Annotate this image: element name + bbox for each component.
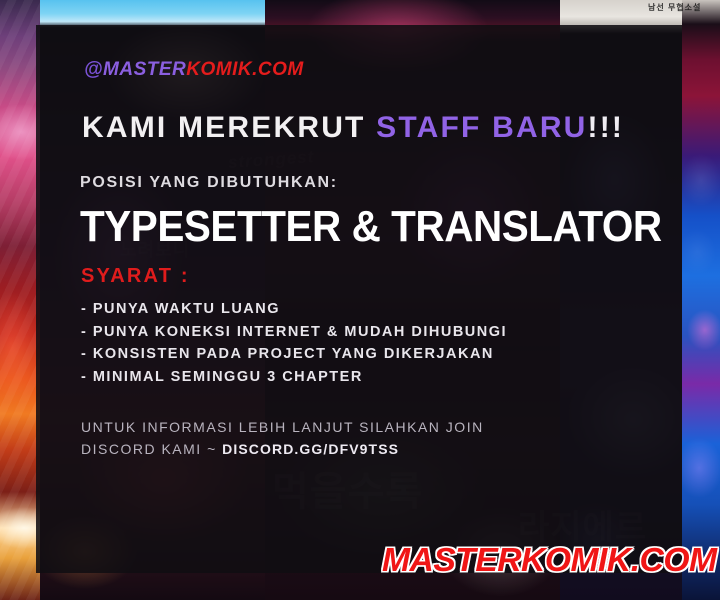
list-item: - PUNYA KONEKSI INTERNET & MUDAH DIHUBUN… — [81, 321, 507, 344]
discord-invite-link[interactable]: DISCORD.GG/DFV9TSS — [222, 441, 399, 457]
site-watermark: MASTERKOMIK.COM — [382, 541, 717, 579]
requirements-list: - PUNYA WAKTU LUANG - PUNYA KONEKSI INTE… — [81, 298, 507, 388]
at-symbol-icon: @ — [84, 59, 103, 80]
position-label: POSISI YANG DIBUTUHKAN: — [80, 174, 338, 192]
banner-content: @MASTERKOMIK.COM KAMI MEREKRUT STAFF BAR… — [0, 0, 720, 600]
headline-exclaim: !!! — [588, 111, 625, 144]
headline-lead: KAMI MEREKRUT — [82, 111, 376, 144]
position-value: TYPESETTER & TRANSLATOR — [80, 202, 662, 252]
recruitment-banner: 먹을수록 라지에르 strongest 환담 남선 무협소설 노려보니 @MAS… — [0, 0, 720, 600]
contact-info-line-1: UNTUK INFORMASI LEBIH LANJUT SILAHKAN JO… — [81, 416, 484, 438]
requirements-heading: SYARAT : — [81, 265, 190, 288]
contact-info-line-2: DISCORD KAMI ~ DISCORD.GG/DFV9TSS — [81, 438, 484, 460]
handle-brand-first: MASTER — [103, 59, 186, 80]
contact-info: UNTUK INFORMASI LEBIH LANJUT SILAHKAN JO… — [81, 416, 484, 460]
list-item: - MINIMAL SEMINGGU 3 CHAPTER — [81, 366, 507, 389]
list-item: - PUNYA WAKTU LUANG — [81, 298, 507, 321]
handle-brand-second: KOMIK.COM — [186, 59, 303, 80]
page-title: KAMI MEREKRUT STAFF BARU!!! — [82, 111, 624, 145]
headline-highlight: STAFF BARU — [376, 111, 587, 144]
list-item: - KONSISTEN PADA PROJECT YANG DIKERJAKAN — [81, 343, 507, 366]
site-handle: @MASTERKOMIK.COM — [84, 59, 304, 81]
contact-info-prefix: DISCORD KAMI ~ — [81, 441, 222, 457]
